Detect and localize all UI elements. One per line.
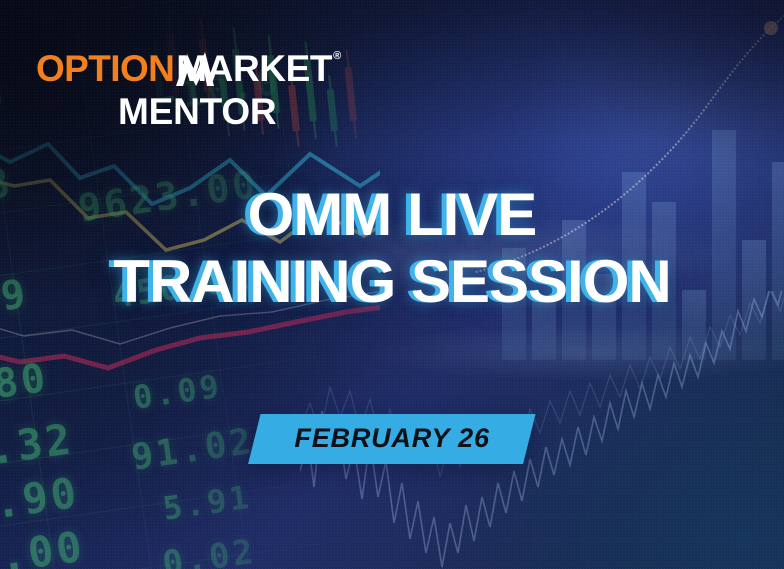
page-title-line-2: TRAINING SESSION <box>0 253 784 312</box>
led-readout: .90 <box>0 468 82 528</box>
led-readout: 91.02 <box>129 421 257 479</box>
zigzag-chart-line-icon <box>174 48 236 90</box>
logo-market-group: MARKET ® <box>174 50 341 87</box>
led-readout: .00 <box>0 522 88 569</box>
logo-word-mentor: MENTOR <box>118 93 416 130</box>
led-readout: .32 <box>0 414 77 474</box>
page-title-line-1: OMM LIVE <box>0 186 784 245</box>
date-badge-label: FEBRUARY 26 <box>294 425 489 452</box>
logo-word-option: OPTION <box>36 50 174 87</box>
brand-logo[interactable]: OPTION MARKET ® MENTOR <box>36 48 416 130</box>
led-readout: 5.91 <box>160 478 253 528</box>
promo-banner: 48 78 9623.00 09 450.92 -10.0 80 .32 0.0… <box>0 0 784 569</box>
page-title: OMM LIVE TRAINING SESSION <box>0 186 784 312</box>
led-readout: 0.05 <box>209 565 297 569</box>
led-readout: 0.02 <box>160 532 259 569</box>
date-badge: FEBRUARY 26 <box>248 414 536 464</box>
logo-line-1: OPTION MARKET ® <box>36 48 416 88</box>
registered-trademark-icon: ® <box>333 51 341 62</box>
